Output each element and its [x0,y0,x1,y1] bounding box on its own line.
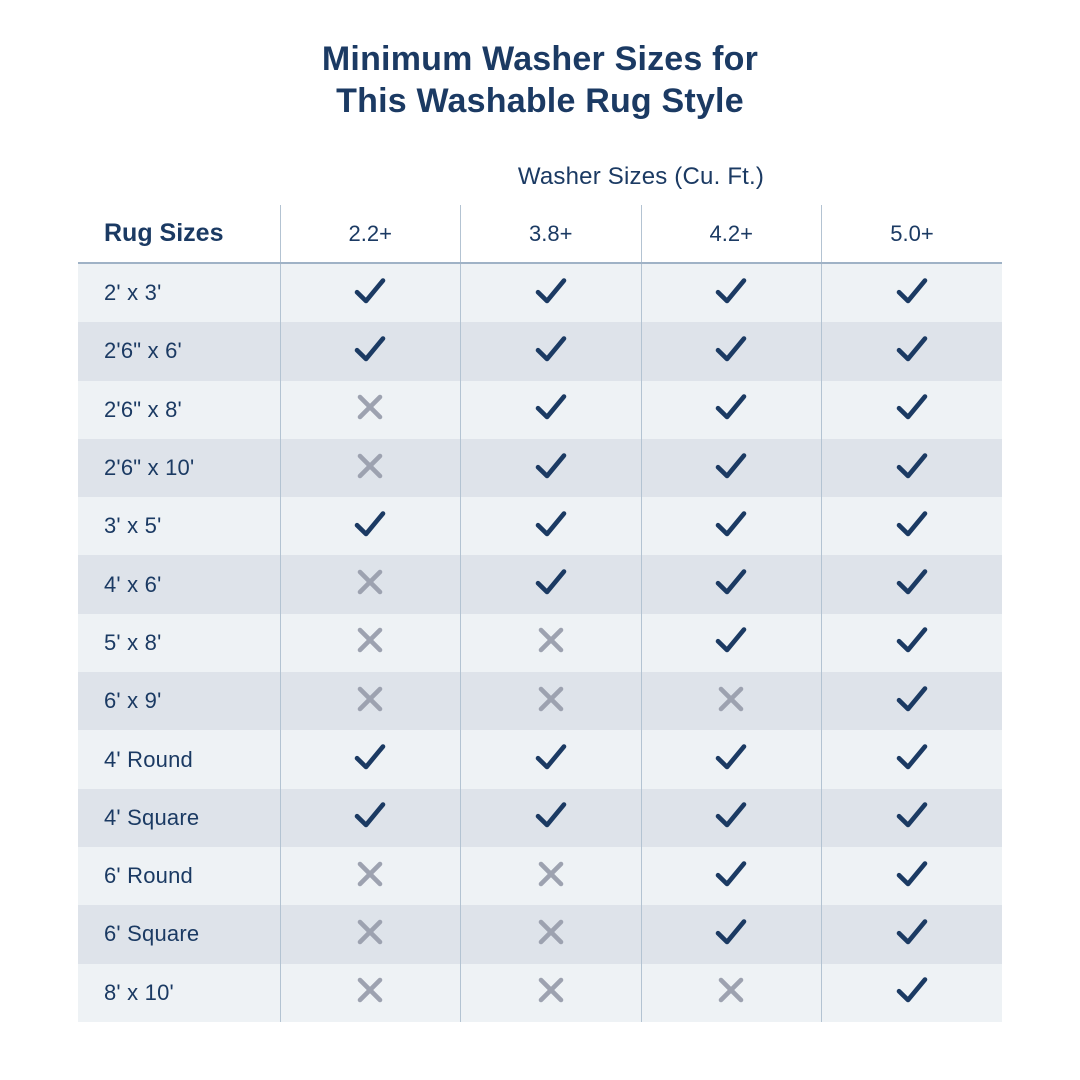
table-row: 6' Square [78,905,1002,963]
check-icon [895,917,929,947]
rug-size-label: 8' x 10' [78,964,280,1022]
cross-icon [355,859,385,889]
cell-supported [641,439,822,497]
column-header-washer-3: 4.2+ [641,205,822,263]
cell-supported [641,789,822,847]
cell-supported [280,497,461,555]
cross-icon [536,975,566,1005]
compatibility-table: Rug Sizes 2.2+ 3.8+ 4.2+ 5.0+ 2' x 3'2'6… [78,205,1002,1022]
cell-supported [822,263,1003,322]
cell-supported [461,439,642,497]
check-icon [714,742,748,772]
page-title-line-2: This Washable Rug Style [0,80,1080,122]
table-body: 2' x 3'2'6" x 6'2'6" x 8'2'6" x 10'3' x … [78,263,1002,1022]
rug-size-label: 2'6" x 6' [78,322,280,380]
check-icon [714,509,748,539]
cross-icon [716,684,746,714]
rug-size-label: 4' Square [78,789,280,847]
table-row: 3' x 5' [78,497,1002,555]
table-row: 2'6" x 10' [78,439,1002,497]
rug-size-label: 2'6" x 10' [78,439,280,497]
cross-icon [355,684,385,714]
check-icon [714,392,748,422]
cell-supported [280,322,461,380]
cell-supported [641,905,822,963]
table-row: 4' Square [78,789,1002,847]
cell-supported [822,614,1003,672]
check-icon [534,567,568,597]
check-icon [895,800,929,830]
column-header-rug-sizes: Rug Sizes [78,205,280,263]
table-row: 5' x 8' [78,614,1002,672]
cell-supported [641,381,822,439]
page-title: Minimum Washer Sizes for This Washable R… [0,38,1080,122]
cross-icon [536,625,566,655]
cross-icon [536,684,566,714]
cross-icon [355,917,385,947]
check-icon [895,625,929,655]
cell-supported [461,497,642,555]
cell-supported [461,789,642,847]
check-icon [353,509,387,539]
table-header: Rug Sizes 2.2+ 3.8+ 4.2+ 5.0+ [78,205,1002,263]
check-icon [534,451,568,481]
cell-not-supported [280,905,461,963]
cross-icon [536,917,566,947]
compatibility-table-container: Rug Sizes 2.2+ 3.8+ 4.2+ 5.0+ 2' x 3'2'6… [78,205,1002,1022]
cross-icon [355,625,385,655]
check-icon [534,334,568,364]
column-header-washer-2: 3.8+ [461,205,642,263]
cell-supported [461,322,642,380]
check-icon [714,625,748,655]
cell-not-supported [280,555,461,613]
cell-supported [822,381,1003,439]
page-title-line-1: Minimum Washer Sizes for [0,38,1080,80]
check-icon [895,742,929,772]
cell-supported [641,730,822,788]
cell-supported [641,497,822,555]
cross-icon [355,451,385,481]
check-icon [714,859,748,889]
cross-icon [355,392,385,422]
cell-supported [822,322,1003,380]
cell-not-supported [280,964,461,1022]
table-row: 2' x 3' [78,263,1002,322]
check-icon [534,800,568,830]
cell-supported [461,381,642,439]
cell-supported [641,847,822,905]
cell-supported [461,730,642,788]
cell-not-supported [461,905,642,963]
rug-size-label: 3' x 5' [78,497,280,555]
cell-supported [461,263,642,322]
cell-supported [822,672,1003,730]
table-row: 2'6" x 8' [78,381,1002,439]
cell-supported [461,555,642,613]
cell-not-supported [461,672,642,730]
check-icon [353,742,387,772]
cell-supported [641,614,822,672]
check-icon [714,800,748,830]
rug-size-label: 5' x 8' [78,614,280,672]
check-icon [714,567,748,597]
washer-size-chart-page: Minimum Washer Sizes for This Washable R… [0,0,1080,1080]
check-icon [895,276,929,306]
table-row: 8' x 10' [78,964,1002,1022]
header-row: Rug Sizes 2.2+ 3.8+ 4.2+ 5.0+ [78,205,1002,263]
check-icon [353,276,387,306]
cell-supported [641,263,822,322]
cross-icon [536,859,566,889]
cell-not-supported [280,381,461,439]
rug-size-label: 6' x 9' [78,672,280,730]
check-icon [895,684,929,714]
check-icon [534,392,568,422]
check-icon [534,509,568,539]
table-row: 2'6" x 6' [78,322,1002,380]
cross-icon [716,975,746,1005]
check-icon [895,975,929,1005]
cell-supported [822,789,1003,847]
check-icon [714,451,748,481]
cell-supported [822,497,1003,555]
cross-icon [355,975,385,1005]
cell-supported [822,555,1003,613]
cell-supported [280,730,461,788]
cell-not-supported [461,964,642,1022]
rug-size-label: 6' Square [78,905,280,963]
check-icon [353,334,387,364]
check-icon [895,509,929,539]
cell-not-supported [641,672,822,730]
rug-size-label: 2' x 3' [78,263,280,322]
check-icon [895,451,929,481]
rug-size-label: 4' x 6' [78,555,280,613]
check-icon [895,859,929,889]
check-icon [714,334,748,364]
cell-not-supported [280,614,461,672]
check-icon [895,567,929,597]
cell-not-supported [461,614,642,672]
cell-supported [822,730,1003,788]
table-row: 6' x 9' [78,672,1002,730]
rug-size-label: 4' Round [78,730,280,788]
cross-icon [355,567,385,597]
check-icon [353,800,387,830]
column-header-washer-1: 2.2+ [280,205,461,263]
check-icon [714,276,748,306]
cell-not-supported [280,439,461,497]
check-icon [895,334,929,364]
check-icon [895,392,929,422]
table-row: 4' x 6' [78,555,1002,613]
cell-not-supported [280,847,461,905]
cell-supported [641,555,822,613]
cell-not-supported [641,964,822,1022]
column-header-washer-4: 5.0+ [822,205,1003,263]
rug-size-label: 2'6" x 8' [78,381,280,439]
check-icon [714,917,748,947]
cell-supported [822,964,1003,1022]
cell-supported [280,789,461,847]
cell-supported [641,322,822,380]
table-row: 4' Round [78,730,1002,788]
cell-not-supported [461,847,642,905]
cell-supported [822,439,1003,497]
cell-not-supported [280,672,461,730]
rug-size-label: 6' Round [78,847,280,905]
table-row: 6' Round [78,847,1002,905]
cell-supported [280,263,461,322]
cell-supported [822,847,1003,905]
check-icon [534,276,568,306]
cell-supported [822,905,1003,963]
check-icon [534,742,568,772]
washer-sizes-subtitle: Washer Sizes (Cu. Ft.) [280,163,1002,191]
